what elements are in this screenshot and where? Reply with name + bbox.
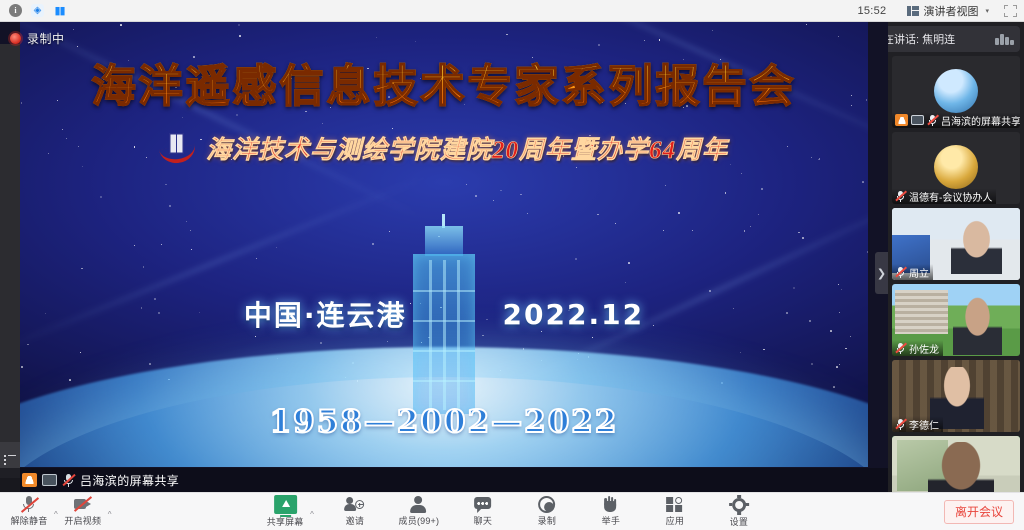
chat-button[interactable]: 聊天 <box>460 493 506 530</box>
apps-icon <box>665 496 684 513</box>
presentation-slide: 海洋遥感信息技术专家系列报告会 海洋技术与测绘学院建院20周年暨办学64周年 中… <box>20 22 868 467</box>
mic-muted-icon <box>895 190 906 202</box>
start-video-label: 开启视频 <box>64 514 101 527</box>
settings-label: 设置 <box>730 515 748 528</box>
recording-badge: 录制中 <box>10 30 65 47</box>
participant-tile-5[interactable]: 李德仁 <box>892 360 1020 432</box>
participant-name-row: 孙佐龙 <box>892 340 943 356</box>
leave-meeting-button[interactable]: 离开会议 <box>944 500 1014 524</box>
participants-button[interactable]: 成员(99+) <box>396 493 442 530</box>
clock: 15:52 <box>857 5 886 17</box>
view-mode-selector[interactable]: 演讲者视图 ▾ <box>902 2 994 20</box>
invite-button[interactable]: 邀请 <box>332 493 378 530</box>
record-button[interactable]: 录制 <box>524 493 570 530</box>
recording-label: 录制中 <box>27 30 65 47</box>
mic-muted-icon <box>895 342 906 354</box>
participant-name-row: 李德仁 <box>892 416 943 432</box>
globe-blue-avatar <box>934 69 978 113</box>
slide-anniversary-years: 1958—2002—2022 <box>20 404 868 440</box>
settings-button[interactable]: 设置 <box>716 493 762 530</box>
settings-gear-icon <box>730 496 748 514</box>
raise-hand-button[interactable]: 举手 <box>588 493 634 530</box>
slide-subtitle-row: 海洋技术与测绘学院建院20周年暨办学64周年 <box>20 130 868 166</box>
participant-name: 周立 <box>909 265 929 280</box>
slide-location: 中国·连云港 <box>244 294 407 334</box>
participant-tile-screenshare[interactable]: 吕海滨的屏幕共享 <box>892 56 1020 128</box>
shared-screen-stage[interactable]: 海洋遥感信息技术专家系列报告会 海洋技术与测绘学院建院20周年暨办学64周年 中… <box>0 22 888 492</box>
apps-label: 应用 <box>666 514 684 527</box>
participant-tile-3[interactable]: 周立 <box>892 208 1020 280</box>
toolbar-right-group: 离开会议 <box>944 503 1024 521</box>
sharer-status-bar: 吕海滨的屏幕共享 <box>0 468 888 492</box>
toolbar-center-group: 共享屏幕 ^ 邀请 成员(99+) 聊天 录制 举手 <box>262 493 762 530</box>
window-title-bar: i ◈ ▮▮ 15:52 演讲者视图 ▾ <box>0 0 1024 22</box>
active-speaker-label: 正在讲话: 焦明连 <box>888 31 955 47</box>
mic-muted-icon <box>927 114 938 126</box>
chat-label: 聊天 <box>474 514 492 527</box>
slide-subtitle: 海洋技术与测绘学院建院20周年暨办学64周年 <box>206 130 728 166</box>
invite-icon <box>345 496 364 513</box>
mic-muted-icon <box>20 496 39 513</box>
participant-name-row: 周立 <box>892 264 933 280</box>
meeting-toolbar: 解除静音 ^ 开启视频 ^ 共享屏幕 ^ 邀请 成员(99+) <box>0 492 1024 530</box>
participants-label: 成员(99+) <box>399 514 440 527</box>
record-icon <box>538 496 555 513</box>
raise-hand-icon <box>601 496 620 513</box>
participant-tile-active-speaker[interactable]: 焦明连 <box>892 436 1020 492</box>
invite-label: 邀请 <box>346 514 364 527</box>
slide-date: 2022.12 <box>503 298 645 331</box>
participant-panel[interactable]: 正在讲话: 焦明连 吕海滨的屏幕共享 温德有-会议协办人 周立 孙佐 <box>888 22 1024 492</box>
audio-wave-icon <box>995 34 1014 45</box>
titlebar-right-group: 15:52 演讲者视图 ▾ <box>857 2 1024 20</box>
chevron-down-icon[interactable]: ▾ <box>985 7 989 15</box>
participant-name-row: 温德有-会议协办人 <box>892 188 996 204</box>
toolbar-left-group: 解除静音 ^ 开启视频 ^ <box>0 493 112 530</box>
participant-name: 温德有-会议协办人 <box>909 189 992 204</box>
share-screen-button[interactable]: 共享屏幕 <box>262 493 308 530</box>
chevron-right-icon[interactable]: ❯ <box>875 252 888 294</box>
mic-muted-icon <box>62 473 75 487</box>
layout-speaker-icon <box>907 6 919 16</box>
share-screen-icon <box>274 495 297 514</box>
record-dot-icon <box>10 33 21 44</box>
view-mode-label: 演讲者视图 <box>923 3 978 19</box>
share-options-chevron-icon[interactable]: ^ <box>310 510 314 519</box>
screen-share-icon <box>42 474 57 486</box>
network-chart-icon[interactable]: ▮▮ <box>53 4 66 17</box>
active-speaker-banner: 正在讲话: 焦明连 <box>888 26 1020 52</box>
video-feed <box>892 436 1020 492</box>
school-emblem-icon <box>160 131 196 165</box>
slide-location-date-row: 中国·连云港 2022.12 <box>20 294 868 334</box>
shield-icon[interactable]: ◈ <box>31 4 44 17</box>
host-icon <box>22 473 37 487</box>
participant-tile-4[interactable]: 孙佐龙 <box>892 284 1020 356</box>
chat-icon <box>473 496 492 513</box>
fullscreen-icon[interactable] <box>1004 5 1017 17</box>
screen-share-icon <box>911 115 924 125</box>
record-label: 录制 <box>538 514 556 527</box>
raise-hand-label: 举手 <box>602 514 620 527</box>
video-options-chevron-icon[interactable]: ^ <box>108 510 112 519</box>
left-rail <box>0 44 20 492</box>
titlebar-icon-group: i ◈ ▮▮ <box>0 4 66 17</box>
unmute-label: 解除静音 <box>11 514 48 527</box>
info-icon[interactable]: i <box>9 4 22 17</box>
start-video-button[interactable]: 开启视频 <box>60 493 106 530</box>
participant-tile-cohost[interactable]: 温德有-会议协办人 <box>892 132 1020 204</box>
slide-main-title: 海洋遥感信息技术专家系列报告会 <box>20 50 868 114</box>
mic-muted-icon <box>895 266 906 278</box>
mic-muted-icon <box>895 418 906 430</box>
apps-button[interactable]: 应用 <box>652 493 698 530</box>
participants-icon <box>409 496 428 513</box>
participant-name: 孙佐龙 <box>909 341 939 356</box>
host-icon <box>895 114 908 126</box>
unmute-button[interactable]: 解除静音 <box>6 493 52 530</box>
participant-name: 吕海滨的屏幕共享 <box>941 113 1020 128</box>
participant-name: 李德仁 <box>909 417 939 432</box>
globe-gold-avatar <box>934 145 978 189</box>
camera-off-icon <box>73 496 92 513</box>
audio-options-chevron-icon[interactable]: ^ <box>54 510 58 519</box>
participant-name-row: 吕海滨的屏幕共享 <box>892 112 1020 128</box>
sharer-label: 吕海滨的屏幕共享 <box>80 472 179 489</box>
